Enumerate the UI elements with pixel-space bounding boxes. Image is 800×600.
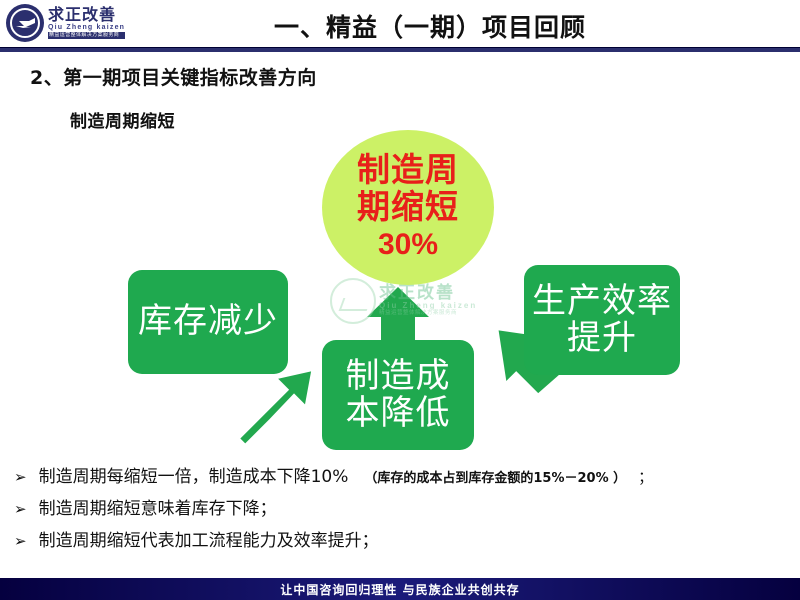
- bullet-arrow-icon: ➢: [14, 532, 27, 550]
- improvement-diagram: 求正改善 Qiu Zheng kaizen 精益运营整体解决方案服务商 制造周 …: [0, 125, 800, 455]
- bullet-text: 制造周期缩短代表加工流程能力及效率提升；: [39, 526, 379, 551]
- center-goal-percent: 30%: [378, 228, 438, 263]
- list-item: ➢ 制造周期缩短代表加工流程能力及效率提升；: [14, 526, 789, 551]
- center-goal-circle: 制造周 期缩短 30%: [322, 130, 494, 285]
- bullet-note: （库存的成本占到库存金额的15%－20% ）: [364, 467, 626, 486]
- slide-canvas: 求正改善 Qiu Zheng kaizen 精益运营整体解决方案服务商 一、精益…: [0, 0, 800, 600]
- header-divider: [0, 47, 800, 52]
- slide-footer: 让中国咨询回归理性 与民族企业共创共存: [0, 578, 800, 600]
- bullet-list: ➢ 制造周期每缩短一倍，制造成本下降10% （库存的成本占到库存金额的15%－2…: [14, 462, 789, 558]
- bullet-semicolon: ；: [638, 466, 653, 487]
- bullet-text: 制造周期每缩短一倍，制造成本下降10%: [39, 462, 349, 487]
- page-title: 一、精益（一期）项目回顾: [0, 8, 800, 44]
- list-item: ➢ 制造周期每缩短一倍，制造成本下降10% （库存的成本占到库存金额的15%－2…: [14, 462, 789, 487]
- bullet-text: 制造周期缩短意味着库存下降；: [39, 494, 277, 519]
- driver-box-efficiency: 生产效率提升: [524, 265, 680, 375]
- driver-box-inventory: 库存减少: [128, 270, 288, 374]
- center-goal-line1: 制造周: [357, 152, 459, 189]
- bullet-arrow-icon: ➢: [14, 468, 27, 486]
- bullet-arrow-icon: ➢: [14, 500, 27, 518]
- section-heading: 2、第一期项目关键指标改善方向: [30, 63, 317, 90]
- arrow-left-to-center: [240, 371, 311, 443]
- arrow-bottom-to-center: [367, 287, 429, 340]
- slide-header: 求正改善 Qiu Zheng kaizen 精益运营整体解决方案服务商 一、精益…: [0, 0, 800, 52]
- center-goal-line2: 期缩短: [357, 189, 459, 226]
- driver-box-cost: 制造成本降低: [322, 340, 474, 450]
- list-item: ➢ 制造周期缩短意味着库存下降；: [14, 494, 789, 519]
